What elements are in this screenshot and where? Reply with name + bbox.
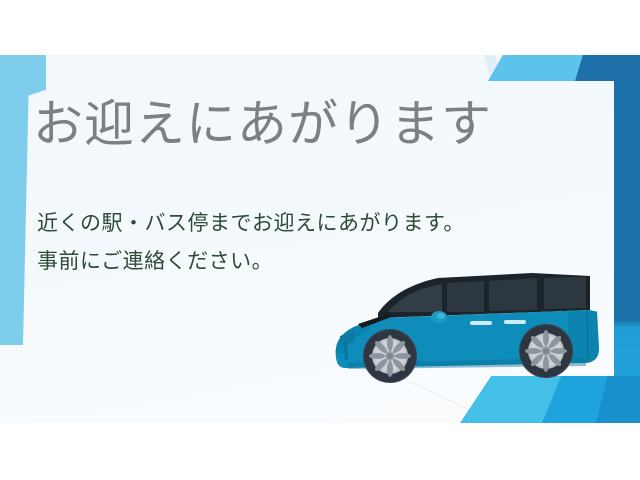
description-line-1: 近くの駅・バス停までお迎えにあがります。 xyxy=(37,205,465,243)
right-edge-band-decoration xyxy=(614,55,640,423)
poster-canvas: お迎えにあがります 近くの駅・バス停までお迎えにあがります。 事前にご連絡くださ… xyxy=(0,0,640,480)
page-title: お迎えにあがります xyxy=(33,96,492,154)
minivan-illustration xyxy=(318,250,608,395)
